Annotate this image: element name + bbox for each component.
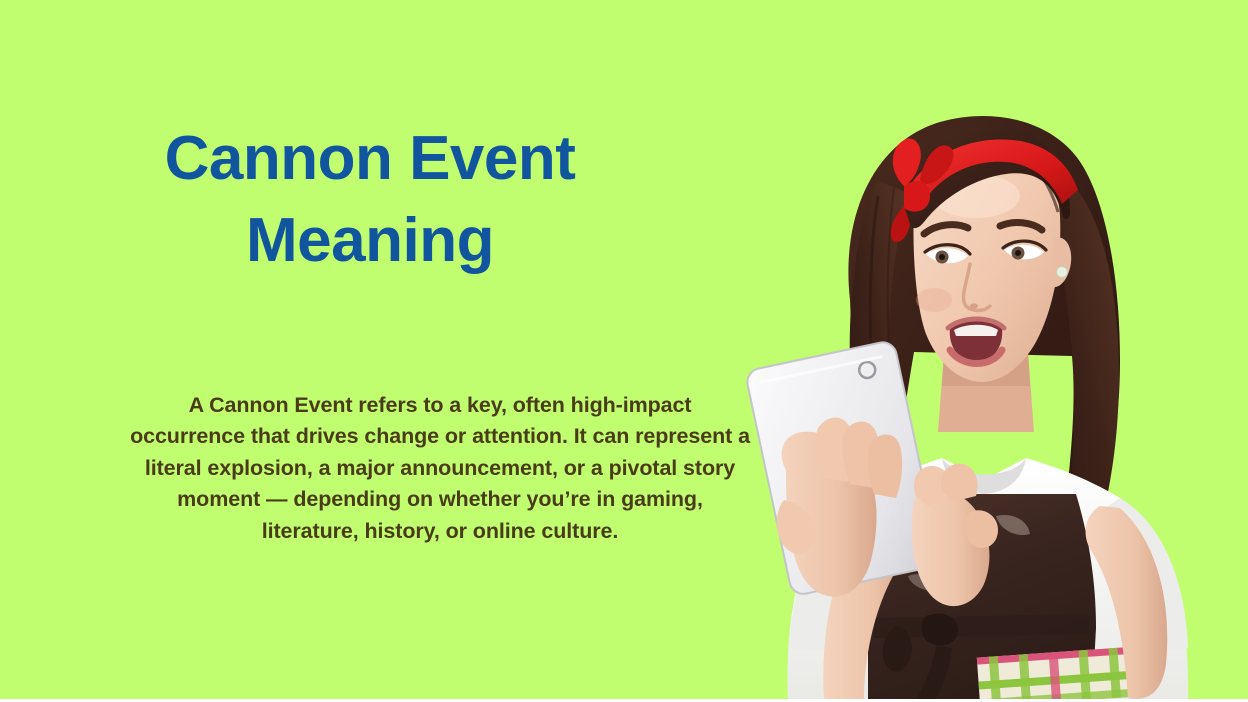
photo-figure (728, 0, 1248, 702)
finger-left-3 (868, 434, 902, 498)
text-column: Cannon Event Meaning A Cannon Event refe… (0, 0, 740, 702)
eye-right-pupil (1015, 250, 1021, 256)
eye-left-pupil (939, 254, 945, 260)
page-title-line-2: Meaning (40, 200, 700, 282)
apron-tie-knot (922, 614, 958, 646)
page-title: Cannon Event Meaning (40, 118, 700, 282)
person-illustration (728, 0, 1248, 702)
cheek-blush (916, 288, 952, 312)
slide-canvas: Cannon Event Meaning A Cannon Event refe… (0, 0, 1248, 702)
earring (1057, 267, 1068, 278)
nostril (970, 303, 978, 308)
page-title-line-1: Cannon Event (40, 118, 700, 200)
body-paragraph: A Cannon Event refers to a key, often hi… (130, 390, 750, 547)
